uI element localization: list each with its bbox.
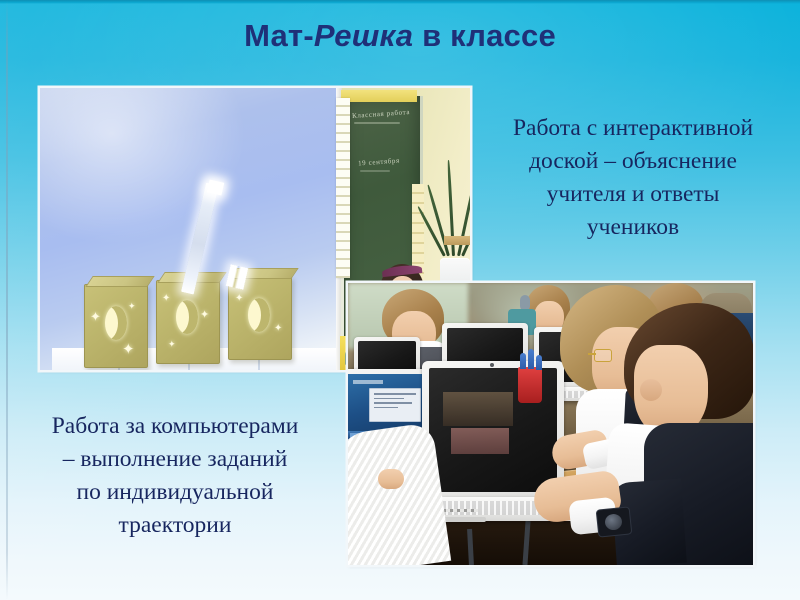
caption-line: Работа за компьютерами <box>10 410 340 443</box>
foreground-left-child-hand <box>378 469 404 489</box>
caption-line: учителя и ответы <box>472 178 794 211</box>
blue-flower <box>520 353 526 369</box>
eyeglasses-temple <box>588 353 596 355</box>
caption-line: доской – объяснение <box>472 145 794 178</box>
foreground-child-ear <box>640 379 662 401</box>
window-text-line <box>374 407 398 409</box>
title-prefix: Мат- <box>244 18 314 53</box>
wristwatch-face <box>604 513 623 531</box>
sparkle-icon: ✦ <box>235 294 243 304</box>
caption-line: траектории <box>10 509 340 542</box>
title-suffix: в классе <box>413 18 556 53</box>
sparkle-icon: ✦ <box>122 342 135 357</box>
crescent-moon-icon <box>105 306 127 340</box>
wall-shelf <box>444 236 470 245</box>
chalkboard-top-trim <box>341 90 417 102</box>
sparkle-icon: ✦ <box>90 310 101 323</box>
screen-reflection <box>443 392 513 426</box>
caption-line: Работа с интерактивной <box>472 112 794 145</box>
desktop-titlebar <box>353 380 383 384</box>
moon-box-lid <box>85 276 154 287</box>
children-laptops-photo <box>348 283 753 565</box>
caption-laptops: Работа за компьютерами – выполнение зада… <box>10 410 340 542</box>
chalkboard-heading: Классная работа <box>352 108 411 120</box>
caption-line: учеников <box>472 211 794 244</box>
blue-flower <box>536 355 542 370</box>
page-title: Мат-Решка в классе <box>0 18 800 54</box>
top-accent-band <box>0 0 800 4</box>
screen-reflection <box>451 428 509 454</box>
blue-flower <box>528 349 534 369</box>
projector-glow <box>40 88 250 248</box>
sparkle-icon: ✦ <box>162 294 170 304</box>
moon-box-face: ✦ ✦ ✦ <box>84 284 148 368</box>
chalk-line <box>360 170 390 172</box>
wall-alphabet-chart <box>336 98 350 278</box>
red-cup <box>518 367 542 403</box>
laptop-lid <box>422 361 564 501</box>
laptop-trackpad[interactable] <box>442 517 486 522</box>
webcam-icon <box>490 363 494 367</box>
title-brand-italic: Решка <box>314 18 413 53</box>
sparkle-icon: ✦ <box>168 340 176 349</box>
slide-canvas: Мат-Решка в классе ✦ ✦ ✦ ✦ ✦ <box>0 0 800 600</box>
sparkle-icon: ✦ <box>200 310 209 321</box>
crescent-moon-icon <box>248 298 270 332</box>
sparkle-icon: ✦ <box>128 302 136 311</box>
pedestal-seam <box>258 360 260 370</box>
window-text-line <box>374 398 404 400</box>
left-edge-rule <box>6 0 8 600</box>
eyeglasses-icon <box>594 349 612 362</box>
caption-line: – выполнение заданий <box>10 443 340 476</box>
sparkle-icon: ✦ <box>274 324 282 334</box>
crescent-moon-icon <box>176 300 198 334</box>
chalk-line <box>354 122 400 124</box>
chalkboard-date: 19 сентября <box>358 157 400 168</box>
wristwatch <box>597 507 632 536</box>
window-text-line <box>374 393 416 395</box>
moon-box: ✦ ✦ ✦ <box>84 284 148 368</box>
caption-line: по индивидуальной <box>10 476 340 509</box>
laptop-window[interactable] <box>369 388 421 422</box>
caption-whiteboard: Работа с интерактивной доской – объяснен… <box>472 112 794 244</box>
window-text-line <box>374 402 412 404</box>
